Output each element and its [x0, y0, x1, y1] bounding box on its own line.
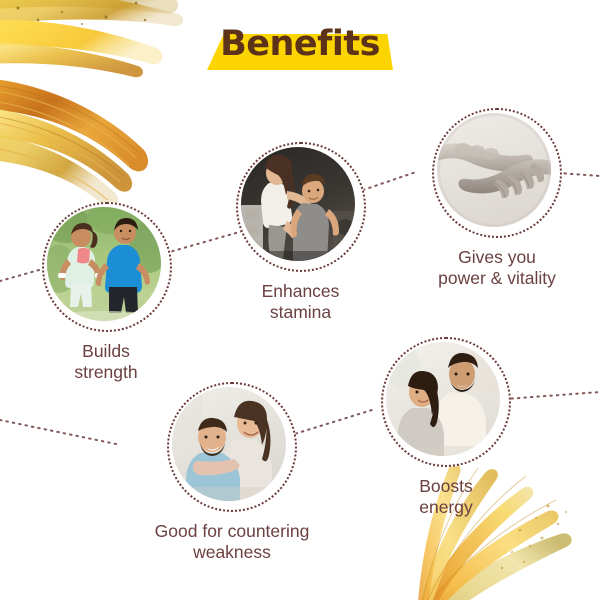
- benefit-label-enhances-stamina: Enhances stamina: [233, 281, 368, 324]
- page-title-container: Benefits: [0, 20, 600, 74]
- benefit-label-boosts-energy: Boosts energy: [366, 476, 526, 519]
- benefit-label-builds-strength: Builds strength: [42, 341, 170, 384]
- benefit-item-good-for-countering-weakness: Good for countering weakness: [112, 382, 352, 564]
- photo-ring-good-for-countering-weakness: [167, 382, 297, 512]
- benefit-label-good-for-countering-weakness: Good for countering weakness: [112, 521, 352, 564]
- photo-good-for-countering-weakness: [172, 387, 286, 501]
- benefit-item-enhances-stamina: Enhances stamina: [233, 142, 368, 324]
- photo-gives-you-power-and-vitality: [437, 113, 551, 227]
- photo-ring-boosts-energy: [381, 337, 511, 467]
- photo-builds-strength: [47, 207, 161, 321]
- benefit-item-builds-strength: Builds strength: [42, 202, 170, 384]
- benefit-item-gives-you-power-and-vitality: Gives you power & vitality: [412, 108, 582, 290]
- photo-enhances-stamina: [241, 147, 355, 261]
- photo-ring-enhances-stamina: [236, 142, 366, 272]
- benefit-label-gives-you-power-and-vitality: Gives you power & vitality: [412, 247, 582, 290]
- benefits-infographic: Benefits: [0, 0, 600, 600]
- page-title: Benefits: [220, 27, 380, 62]
- photo-ring-gives-you-power-and-vitality: [432, 108, 562, 238]
- photo-ring-builds-strength: [42, 202, 172, 332]
- benefit-item-boosts-energy: Boosts energy: [366, 337, 526, 519]
- photo-boosts-energy: [386, 342, 500, 456]
